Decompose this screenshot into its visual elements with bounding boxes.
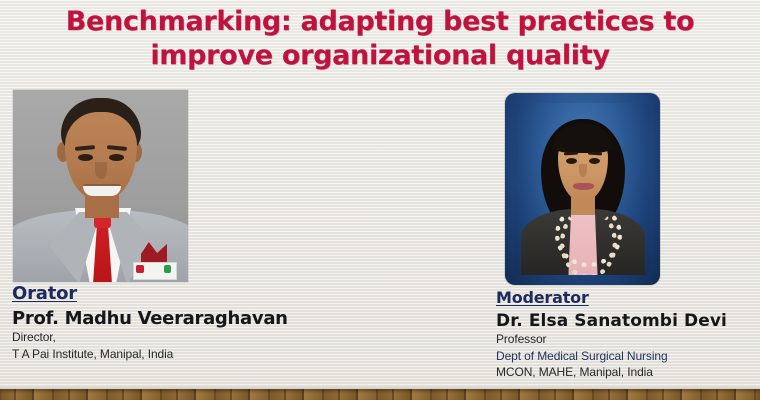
orator-detail-1: Director, (12, 329, 342, 346)
moderator-info: Moderator Dr. Elsa Sanatombi Devi Profes… (496, 289, 760, 381)
orator-nose (95, 162, 107, 179)
moderator-eye-right (589, 158, 600, 164)
orator-photo (13, 90, 188, 282)
moderator-photo (505, 93, 660, 285)
wooden-floor-strip (0, 387, 760, 400)
presentation-slide: Benchmarking: adapting best practices to… (0, 0, 760, 400)
orator-role-label: Orator (12, 283, 77, 304)
orator-name: Prof. Madhu Veeraraghavan (12, 308, 342, 330)
title-line-2: improve organizational quality (0, 40, 760, 72)
moderator-eye-left (566, 158, 577, 164)
moderator-pearl-necklace-inner (560, 207, 617, 275)
moderator-photo-inner (515, 103, 650, 275)
orator-info: Orator Prof. Madhu Veeraraghavan Directo… (12, 284, 342, 362)
moderator-nose (579, 164, 587, 177)
orator-badge-logo-green (164, 265, 171, 273)
moderator-lips (573, 183, 594, 190)
orator-smile (83, 184, 121, 196)
moderator-detail-2: Dept of Medical Surgical Nursing (496, 348, 760, 365)
orator-detail-2: T A Pai Institute, Manipal, India (12, 346, 342, 363)
title-line-1: Benchmarking: adapting best practices to (0, 6, 760, 38)
moderator-detail-1: Professor (496, 331, 760, 348)
moderator-detail-3: MCON, MAHE, Manipal, India (496, 364, 760, 381)
orator-eye-right (109, 154, 124, 161)
orator-eye-left (78, 154, 93, 161)
moderator-name: Dr. Elsa Sanatombi Devi (496, 311, 760, 331)
moderator-role-label: Moderator (496, 288, 589, 307)
page-title: Benchmarking: adapting best practices to… (0, 6, 760, 72)
orator-badge-logo-red (136, 265, 144, 273)
